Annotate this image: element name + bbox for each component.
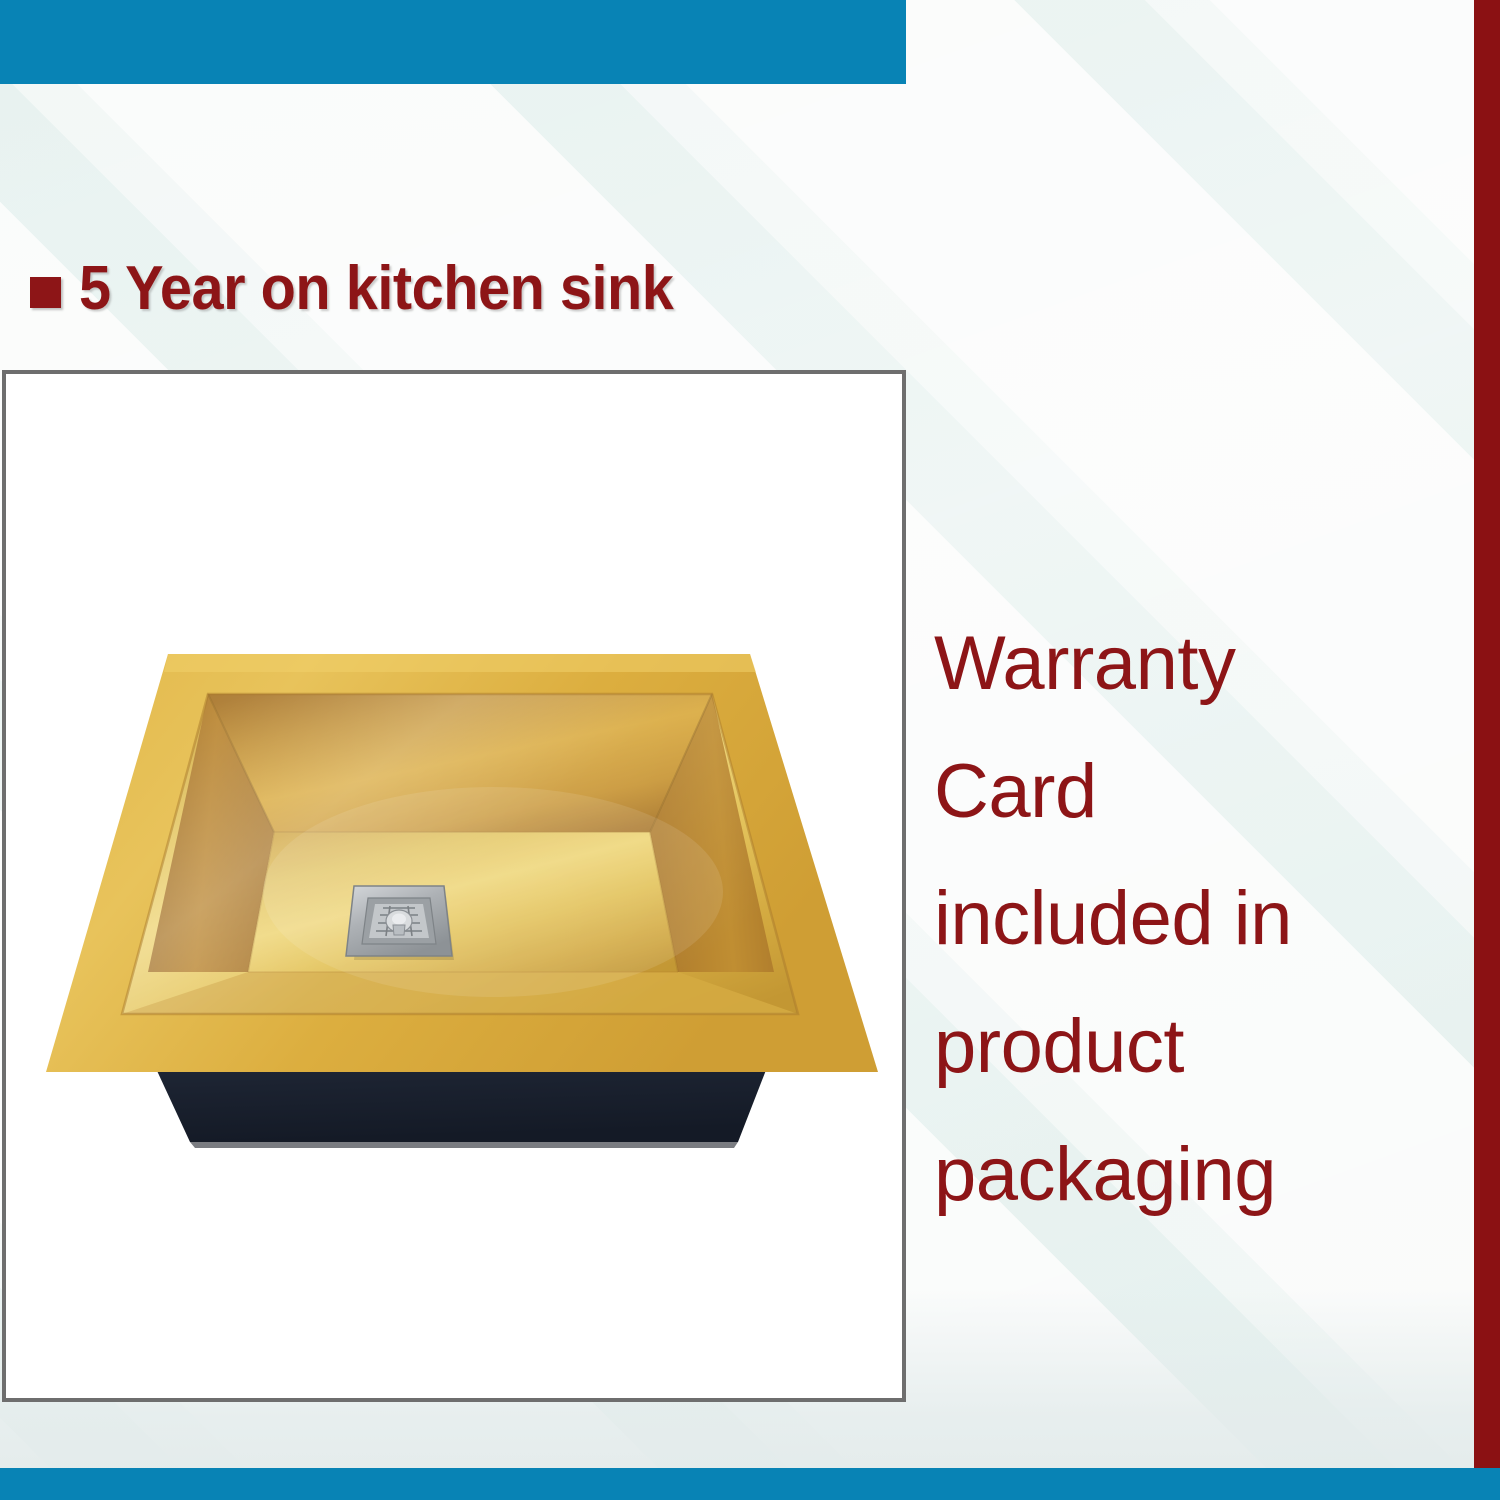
square-bullet-icon [30,277,61,308]
top-blue-accent-bar [0,0,906,84]
right-red-accent-bar [1474,0,1500,1468]
sink-drain-icon [346,886,454,960]
headline-row: 5 Year on kitchen sink [30,258,718,320]
bottom-blue-accent-bar [0,1468,1500,1500]
warranty-line-4: product [934,983,1404,1111]
product-image-panel [2,370,906,1402]
warranty-line-3: included in [934,855,1404,983]
warranty-line-2: Card [934,728,1404,856]
headline-label: 5 Year on kitchen sink [79,258,673,320]
sink-illustration [38,642,878,1152]
warranty-line-5: packaging [934,1111,1404,1239]
sink-product-image [38,642,878,1152]
warranty-line-1: Warranty [934,600,1404,728]
promo-banner: 5 Year on kitchen sink [0,0,1500,1500]
warranty-text-block: Warranty Card included in product packag… [934,600,1404,1238]
